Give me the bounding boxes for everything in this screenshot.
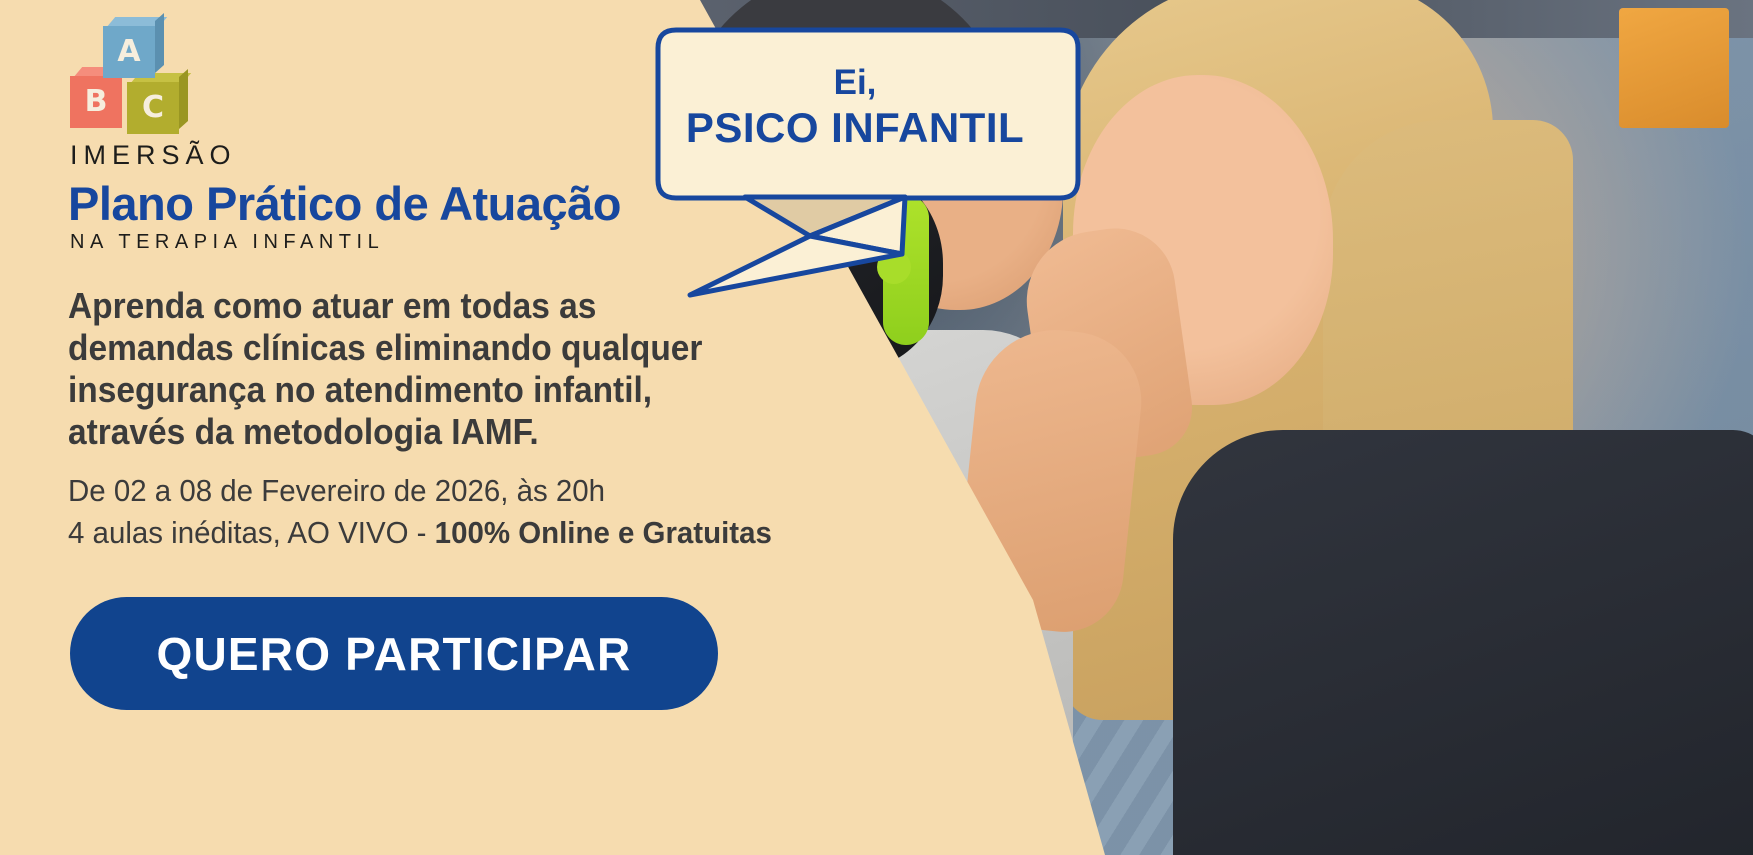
- page-title: Plano Prático de Atuação: [68, 176, 621, 231]
- block-c-label: C: [127, 82, 179, 134]
- schedule-classes: 4 aulas inéditas, AO VIVO - 100% Online …: [68, 512, 923, 554]
- photo-window: [1619, 8, 1729, 128]
- pitch-line-4: através da metodologia IAMF.: [68, 411, 775, 453]
- abc-blocks-logo: B C A: [70, 26, 190, 141]
- promo-banner: B C A IMERSÃO Plano Prático de Atuação N…: [0, 0, 1753, 855]
- quero-participar-button[interactable]: QUERO PARTICIPAR: [70, 597, 718, 710]
- block-a-side-face: [155, 13, 164, 73]
- block-c-side-face: [179, 69, 188, 129]
- pitch-paragraph: Aprenda como atuar em todas as demandas …: [68, 285, 775, 453]
- schedule-classes-highlight: 100% Online e Gratuitas: [435, 515, 772, 550]
- photo-girl-shirt: [1173, 430, 1753, 855]
- block-a-icon: A: [103, 26, 155, 78]
- eyebrow-imersao: IMERSÃO: [70, 140, 237, 171]
- subtitle-terapia-infantil: NA TERAPIA INFANTIL: [70, 231, 384, 254]
- pitch-line-2: demandas clínicas eliminando qualquer: [68, 327, 775, 369]
- block-b-label: B: [70, 76, 122, 128]
- schedule-classes-prefix: 4 aulas inéditas, AO VIVO -: [68, 515, 435, 550]
- schedule-info: De 02 a 08 de Fevereiro de 2026, às 20h …: [68, 470, 923, 554]
- pitch-line-3: insegurança no atendimento infantil,: [68, 369, 775, 411]
- block-a-label: A: [103, 26, 155, 78]
- block-b-icon: B: [70, 76, 122, 128]
- block-c-icon: C: [127, 82, 179, 134]
- speech-bubble: Ei, PSICO INFANTIL: [630, 18, 1100, 308]
- speech-bubble-shape: [630, 18, 1100, 308]
- schedule-dates: De 02 a 08 de Fevereiro de 2026, às 20h: [68, 470, 923, 512]
